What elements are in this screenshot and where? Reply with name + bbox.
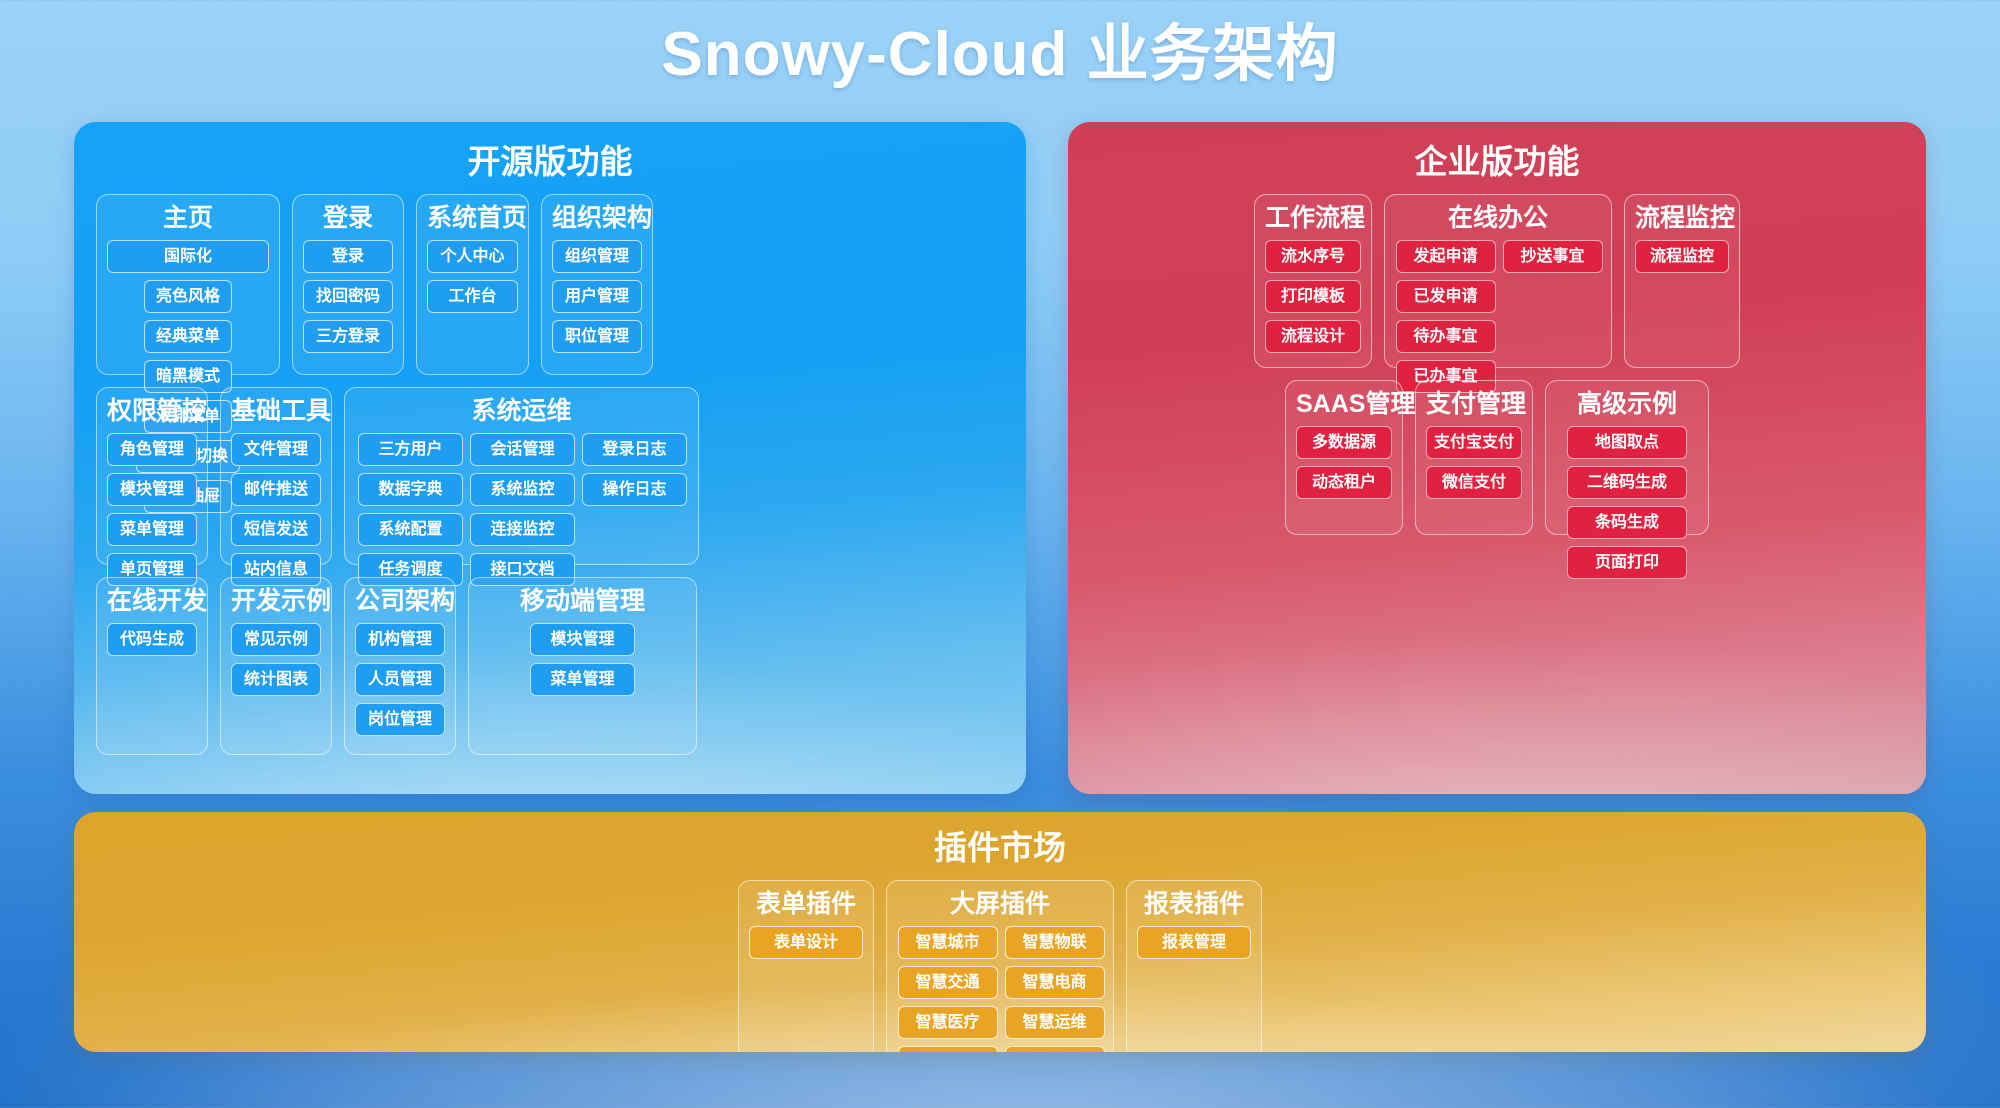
chip-sent-application[interactable]: 已发申请 bbox=[1396, 280, 1496, 313]
group-mobile-manage-chips: 模块管理 菜单管理 bbox=[479, 623, 686, 696]
chip-cc-matters[interactable]: 抄送事宜 bbox=[1503, 240, 1603, 273]
group-online-office[interactable]: 在线办公 发起申请 抄送事宜 已发申请 待办事宜 已办事宜 bbox=[1384, 194, 1612, 368]
group-home-title: 主页 bbox=[107, 201, 269, 235]
chip-smart-traffic[interactable]: 智慧交通 bbox=[898, 966, 998, 999]
plugin-market-title: 插件市场 bbox=[94, 822, 1906, 874]
group-online-office-title: 在线办公 bbox=[1395, 201, 1601, 235]
group-screen-plugin[interactable]: 大屏插件 智慧城市 智慧物联 智慧交通 智慧电商 智慧医疗 智慧运维 智慧政务 … bbox=[886, 880, 1114, 1052]
group-login-chips: 登录 找回密码 三方登录 bbox=[303, 240, 393, 353]
group-payment[interactable]: 支付管理 支付宝支付 微信支付 bbox=[1415, 380, 1533, 535]
group-advanced-demo-chips: 地图取点 二维码生成 条码生成 页面打印 bbox=[1556, 426, 1698, 579]
chip-system-monitor[interactable]: 系统监控 bbox=[470, 473, 575, 506]
chip-smart-ops[interactable]: 智慧运维 bbox=[1005, 1006, 1105, 1039]
chip-post-manage[interactable]: 岗位管理 bbox=[355, 703, 445, 736]
plugin-market-groups: 表单插件 表单设计 大屏插件 智慧城市 智慧物联 智慧交通 智慧电商 智慧医疗 … bbox=[94, 880, 1906, 1052]
top-panels-row: 开源版功能 主页 国际化 亮色风格 经典菜单 暗黑模式 双排菜单 主题色切换 设 bbox=[74, 122, 1926, 794]
page-title: Snowy-Cloud 业务架构 bbox=[0, 12, 2000, 98]
group-dev-demo-title: 开发示例 bbox=[231, 584, 321, 618]
group-form-plugin-chips: 表单设计 bbox=[749, 926, 863, 959]
chip-page-print[interactable]: 页面打印 bbox=[1567, 546, 1687, 579]
chip-position-manage[interactable]: 职位管理 bbox=[552, 320, 642, 353]
group-system-home[interactable]: 系统首页 个人中心 工作台 bbox=[416, 194, 529, 375]
group-report-plugin-title: 报表插件 bbox=[1137, 887, 1251, 921]
group-payment-title: 支付管理 bbox=[1426, 387, 1522, 421]
group-basic-tools[interactable]: 基础工具 文件管理 邮件推送 短信发送 站内信息 bbox=[220, 387, 332, 565]
chip-dynamic-tenant[interactable]: 动态租户 bbox=[1296, 466, 1392, 499]
group-online-dev-title: 在线开发 bbox=[107, 584, 197, 618]
open-source-panel: 开源版功能 主页 国际化 亮色风格 经典菜单 暗黑模式 双排菜单 主题色切换 设 bbox=[74, 122, 1026, 794]
group-online-office-chips: 发起申请 抄送事宜 已发申请 待办事宜 已办事宜 bbox=[1395, 240, 1603, 393]
chip-smart-ecommerce[interactable]: 智慧电商 bbox=[1005, 966, 1105, 999]
group-screen-plugin-chips: 智慧城市 智慧物联 智慧交通 智慧电商 智慧医疗 智慧运维 智慧政务 智慧金融 bbox=[897, 926, 1105, 1052]
chip-mobile-menu-manage[interactable]: 菜单管理 bbox=[530, 663, 635, 696]
group-saas[interactable]: SAAS管理 多数据源 动态租户 bbox=[1285, 380, 1403, 535]
enterprise-row-1: 工作流程 流水序号 打印模板 流程设计 在线办公 发起申请 抄送事宜 已发申请 bbox=[1254, 194, 1740, 368]
chip-alipay[interactable]: 支付宝支付 bbox=[1426, 426, 1522, 459]
chip-smart-government[interactable]: 智慧政务 bbox=[898, 1046, 998, 1052]
group-login[interactable]: 登录 登录 找回密码 三方登录 bbox=[292, 194, 404, 375]
open-source-panel-body: 主页 国际化 亮色风格 经典菜单 暗黑模式 双排菜单 主题色切换 设置抽屉 登录 bbox=[96, 194, 1004, 755]
chip-data-dict[interactable]: 数据字典 bbox=[358, 473, 463, 506]
open-source-row-3: 在线开发 代码生成 开发示例 常见示例 统计图表 公司架构 bbox=[96, 577, 1004, 755]
group-org-structure-chips: 组织管理 用户管理 职位管理 bbox=[552, 240, 642, 353]
enterprise-row-2: SAAS管理 多数据源 动态租户 支付管理 支付宝支付 微信支付 bbox=[1285, 380, 1709, 535]
group-form-plugin[interactable]: 表单插件 表单设计 bbox=[738, 880, 874, 1052]
chip-file-manage[interactable]: 文件管理 bbox=[231, 433, 321, 466]
group-workflow[interactable]: 工作流程 流水序号 打印模板 流程设计 bbox=[1254, 194, 1372, 368]
chip-code-gen[interactable]: 代码生成 bbox=[107, 623, 197, 656]
chip-org-manage[interactable]: 组织管理 bbox=[552, 240, 642, 273]
group-system-home-title: 系统首页 bbox=[427, 201, 518, 235]
group-report-plugin-chips: 报表管理 bbox=[1137, 926, 1251, 959]
enterprise-panel-body: 工作流程 流水序号 打印模板 流程设计 在线办公 发起申请 抄送事宜 已发申请 bbox=[1090, 194, 1904, 547]
enterprise-panel-title: 企业版功能 bbox=[1090, 136, 1904, 188]
group-system-ops[interactable]: 系统运维 三方用户 会话管理 登录日志 数据字典 系统监控 操作日志 系统配置 … bbox=[344, 387, 699, 565]
chip-process-monitor[interactable]: 流程监控 bbox=[1635, 240, 1729, 273]
architecture-diagram-page: Snowy-Cloud 业务架构 开源版功能 主页 国际化 亮色风格 经典菜单 … bbox=[0, 0, 2000, 1108]
group-system-ops-chips: 三方用户 会话管理 登录日志 数据字典 系统监控 操作日志 系统配置 连接监控 … bbox=[355, 433, 690, 586]
group-process-monitor-title: 流程监控 bbox=[1635, 201, 1729, 235]
chip-mobile-module-manage[interactable]: 模块管理 bbox=[530, 623, 635, 656]
chip-operation-log[interactable]: 操作日志 bbox=[582, 473, 687, 506]
chip-third-party-login[interactable]: 三方登录 bbox=[303, 320, 393, 353]
group-form-plugin-title: 表单插件 bbox=[749, 887, 863, 921]
chip-common-demo[interactable]: 常见示例 bbox=[231, 623, 321, 656]
group-process-monitor[interactable]: 流程监控 流程监控 bbox=[1624, 194, 1740, 368]
chip-connection-monitor[interactable]: 连接监控 bbox=[470, 513, 575, 546]
chip-i18n[interactable]: 国际化 bbox=[107, 240, 269, 273]
group-mobile-manage[interactable]: 移动端管理 模块管理 菜单管理 bbox=[468, 577, 697, 755]
group-system-ops-title: 系统运维 bbox=[355, 394, 688, 428]
group-home[interactable]: 主页 国际化 亮色风格 经典菜单 暗黑模式 双排菜单 主题色切换 设置抽屉 bbox=[96, 194, 280, 375]
group-login-title: 登录 bbox=[303, 201, 393, 235]
group-basic-tools-title: 基础工具 bbox=[231, 394, 321, 428]
chip-report-manage[interactable]: 报表管理 bbox=[1137, 926, 1251, 959]
chip-role-manage[interactable]: 角色管理 bbox=[107, 433, 197, 466]
chip-print-template[interactable]: 打印模板 bbox=[1265, 280, 1361, 313]
chip-process-design[interactable]: 流程设计 bbox=[1265, 320, 1361, 353]
group-screen-plugin-title: 大屏插件 bbox=[897, 887, 1103, 921]
group-advanced-demo-title: 高级示例 bbox=[1556, 387, 1698, 421]
chip-map-picker[interactable]: 地图取点 bbox=[1567, 426, 1687, 459]
group-saas-chips: 多数据源 动态租户 bbox=[1296, 426, 1392, 499]
group-online-dev-chips: 代码生成 bbox=[107, 623, 197, 656]
chip-menu-manage[interactable]: 菜单管理 bbox=[107, 513, 197, 546]
group-company-structure-title: 公司架构 bbox=[355, 584, 445, 618]
group-permission[interactable]: 权限管控 角色管理 模块管理 菜单管理 单页管理 bbox=[96, 387, 208, 565]
chip-module-manage[interactable]: 模块管理 bbox=[107, 473, 197, 506]
group-company-structure-chips: 机构管理 人员管理 岗位管理 bbox=[355, 623, 445, 736]
group-payment-chips: 支付宝支付 微信支付 bbox=[1426, 426, 1522, 499]
plugin-market-panel: 插件市场 表单插件 表单设计 大屏插件 智慧城市 智慧物联 智慧交通 智慧电商 … bbox=[74, 812, 1926, 1052]
chip-stat-chart[interactable]: 统计图表 bbox=[231, 663, 321, 696]
group-company-structure[interactable]: 公司架构 机构管理 人员管理 岗位管理 bbox=[344, 577, 456, 755]
group-advanced-demo[interactable]: 高级示例 地图取点 二维码生成 条码生成 页面打印 bbox=[1545, 380, 1709, 535]
group-saas-title: SAAS管理 bbox=[1296, 387, 1392, 421]
group-system-home-chips: 个人中心 工作台 bbox=[427, 240, 518, 313]
enterprise-panel: 企业版功能 工作流程 流水序号 打印模板 流程设计 在线办公 bbox=[1068, 122, 1926, 794]
chip-staff-manage[interactable]: 人员管理 bbox=[355, 663, 445, 696]
group-dev-demo-chips: 常见示例 统计图表 bbox=[231, 623, 321, 696]
group-org-structure-title: 组织架构 bbox=[552, 201, 642, 235]
chip-login[interactable]: 登录 bbox=[303, 240, 393, 273]
group-workflow-title: 工作流程 bbox=[1265, 201, 1361, 235]
chip-barcode-gen[interactable]: 条码生成 bbox=[1567, 506, 1687, 539]
group-org-structure[interactable]: 组织架构 组织管理 用户管理 职位管理 bbox=[541, 194, 653, 375]
chip-forgot-password[interactable]: 找回密码 bbox=[303, 280, 393, 313]
chip-classic-menu[interactable]: 经典菜单 bbox=[144, 320, 232, 353]
chip-email-push[interactable]: 邮件推送 bbox=[231, 473, 321, 506]
chip-qrcode-gen[interactable]: 二维码生成 bbox=[1567, 466, 1687, 499]
group-permission-chips: 角色管理 模块管理 菜单管理 单页管理 bbox=[107, 433, 197, 586]
open-source-row-2: 权限管控 角色管理 模块管理 菜单管理 单页管理 基础工具 文件管理 邮件推送 bbox=[96, 387, 1004, 565]
chip-user-manage[interactable]: 用户管理 bbox=[552, 280, 642, 313]
group-dev-demo[interactable]: 开发示例 常见示例 统计图表 bbox=[220, 577, 332, 755]
open-source-row-1: 主页 国际化 亮色风格 经典菜单 暗黑模式 双排菜单 主题色切换 设置抽屉 登录 bbox=[96, 194, 1004, 375]
chip-wechat-pay[interactable]: 微信支付 bbox=[1426, 466, 1522, 499]
chip-smart-finance[interactable]: 智慧金融 bbox=[1005, 1046, 1105, 1052]
group-basic-tools-chips: 文件管理 邮件推送 短信发送 站内信息 bbox=[231, 433, 321, 586]
chip-workbench[interactable]: 工作台 bbox=[427, 280, 518, 313]
chip-multi-datasource[interactable]: 多数据源 bbox=[1296, 426, 1392, 459]
chip-light-style[interactable]: 亮色风格 bbox=[144, 280, 232, 313]
chip-initiate-application[interactable]: 发起申请 bbox=[1396, 240, 1496, 273]
group-process-monitor-chips: 流程监控 bbox=[1635, 240, 1729, 273]
chip-system-config[interactable]: 系统配置 bbox=[358, 513, 463, 546]
group-online-dev[interactable]: 在线开发 代码生成 bbox=[96, 577, 208, 755]
group-report-plugin[interactable]: 报表插件 报表管理 bbox=[1126, 880, 1262, 1052]
chip-smart-iot[interactable]: 智慧物联 bbox=[1005, 926, 1105, 959]
chip-form-design[interactable]: 表单设计 bbox=[749, 926, 863, 959]
chip-third-party-user[interactable]: 三方用户 bbox=[358, 433, 463, 466]
group-mobile-manage-title: 移动端管理 bbox=[479, 584, 686, 618]
chip-smart-medical[interactable]: 智慧医疗 bbox=[898, 1006, 998, 1039]
chip-todo-matters[interactable]: 待办事宜 bbox=[1396, 320, 1496, 353]
open-source-panel-title: 开源版功能 bbox=[96, 136, 1004, 188]
chip-login-log[interactable]: 登录日志 bbox=[582, 433, 687, 466]
chip-sms-send[interactable]: 短信发送 bbox=[231, 513, 321, 546]
chip-session-manage[interactable]: 会话管理 bbox=[470, 433, 575, 466]
chip-institution-manage[interactable]: 机构管理 bbox=[355, 623, 445, 656]
chip-smart-city[interactable]: 智慧城市 bbox=[898, 926, 998, 959]
group-workflow-chips: 流水序号 打印模板 流程设计 bbox=[1265, 240, 1361, 353]
chip-personal-center[interactable]: 个人中心 bbox=[427, 240, 518, 273]
group-permission-title: 权限管控 bbox=[107, 394, 197, 428]
chip-serial-number[interactable]: 流水序号 bbox=[1265, 240, 1361, 273]
